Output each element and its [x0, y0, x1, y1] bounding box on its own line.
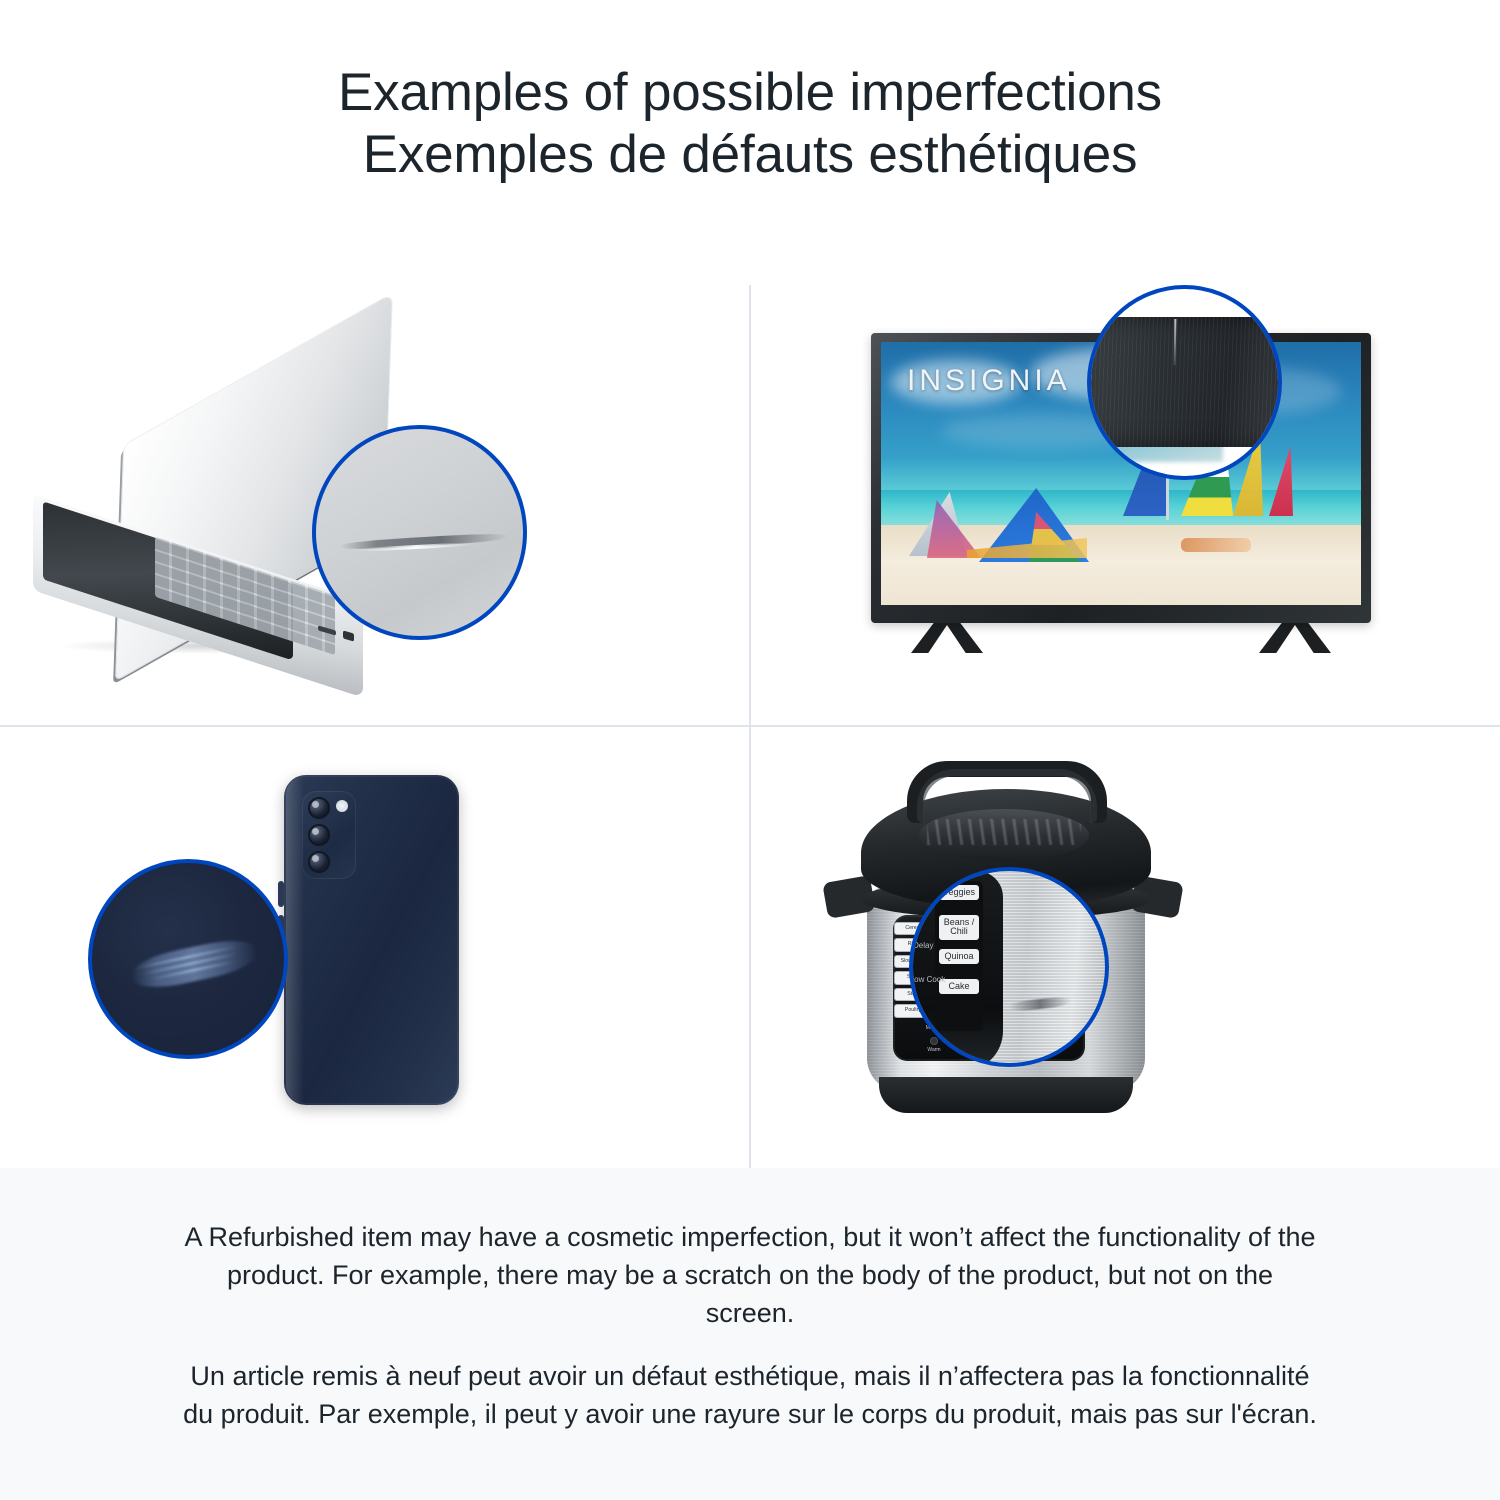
page-footer: A Refurbished item may have a cosmetic i… [0, 1168, 1500, 1500]
cooker-magnified-ghost-label: Slow Cook [909, 975, 945, 984]
cell-laptop [0, 285, 749, 725]
phone-camera-lens-1 [308, 797, 330, 819]
cooker-lid-handle-inner [917, 769, 1097, 823]
magnifier-tv-corner [1087, 285, 1282, 480]
cooker-scratch-mark [1009, 996, 1072, 1012]
phone-volume-button [278, 881, 284, 907]
tv-sailboat-pink [1269, 446, 1293, 516]
footer-paragraph-english: A Refurbished item may have a cosmetic i… [180, 1218, 1320, 1332]
footer-paragraph-french: Un article remis à neuf peut avoir un dé… [180, 1357, 1320, 1433]
phone-camera-module [302, 791, 356, 879]
phone-camera-lens-3 [308, 851, 330, 873]
cell-television: INSIGNIA [751, 285, 1500, 725]
cooker-magnified-button: Quinoa [939, 949, 979, 964]
magnifier-phone-scuff [88, 859, 288, 1059]
cooker-base [879, 1077, 1133, 1113]
cooker-magnified-button: Veggies [939, 885, 979, 900]
cell-smartphone [0, 727, 749, 1167]
tv-corner-bezel-detail [1087, 317, 1282, 447]
magnifier-cooker-scratch: Veggies Beans / Chili Quinoa Cake Delay … [909, 867, 1109, 1067]
phone-scuff-mark [130, 934, 258, 993]
magnifier-laptop-scratch [312, 425, 527, 640]
cell-pressure-cooker: INSIGNIA 8:00 Cereal Rice Slow Cook Soup… [751, 727, 1500, 1167]
lens-glint [312, 855, 319, 862]
television-illustration: INSIGNIA [751, 285, 1500, 725]
phone-camera-lens-2 [308, 824, 330, 846]
lens-glint [312, 801, 319, 808]
tv-canoe [1181, 538, 1251, 552]
smartphone-illustration [0, 727, 749, 1167]
infographic-page: Examples of possible imperfections Exemp… [0, 0, 1500, 1500]
pressure-cooker-illustration: INSIGNIA 8:00 Cereal Rice Slow Cook Soup… [751, 727, 1500, 1167]
page-title-french: Exemples de défauts esthétiques [363, 124, 1138, 186]
laptop-illustration [0, 285, 749, 725]
cooker-magnified-button: Beans / Chili [939, 915, 979, 940]
phone-camera-flash-icon [336, 800, 348, 812]
examples-grid: INSIGNIA [0, 285, 1500, 1168]
page-title-english: Examples of possible imperfections [338, 62, 1162, 124]
cooker-magnified-ghost-label: Delay [913, 941, 933, 950]
lens-glint [312, 828, 319, 835]
page-header: Examples of possible imperfections Exemp… [0, 0, 1500, 285]
tv-brand-logo: INSIGNIA [907, 364, 1071, 398]
